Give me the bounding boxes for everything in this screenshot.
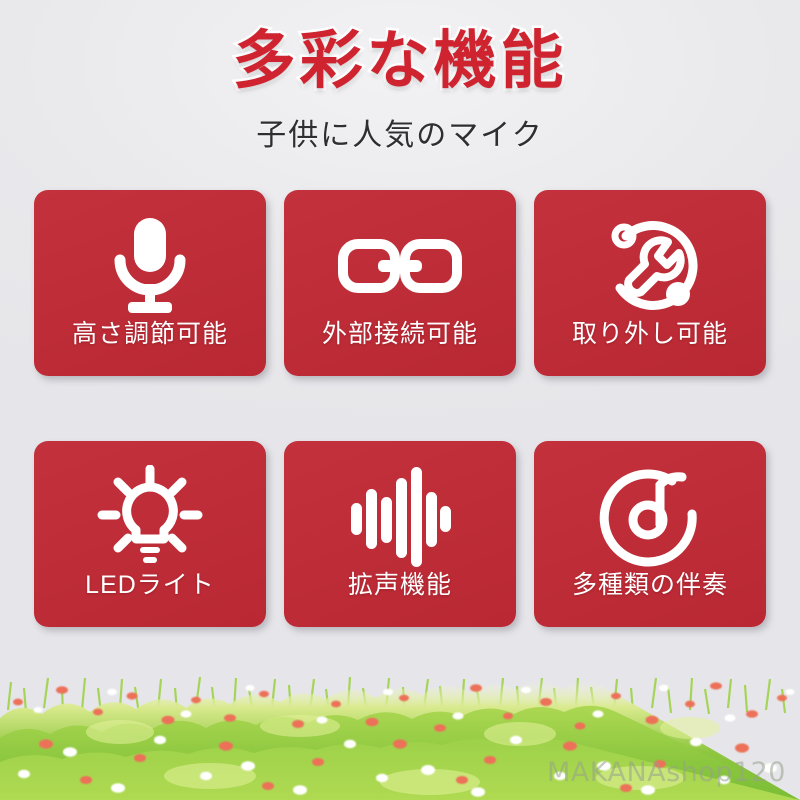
feature-card-led-light[interactable]: LEDライト [34, 441, 266, 627]
watermark: MAKANAshop120 [547, 757, 786, 788]
feature-grid: 高さ調節可能 外部接続可能 取り外し可能 [34, 190, 766, 627]
music-disc-icon [598, 463, 702, 571]
page-title: 多彩な機能 [233, 28, 568, 94]
feature-card-detachable[interactable]: 取り外し可能 [534, 190, 766, 376]
feature-card-external-connection[interactable]: 外部接続可能 [284, 190, 516, 376]
feature-label: 高さ調節可能 [72, 322, 228, 347]
feature-label: 外部接続可能 [322, 322, 478, 347]
feature-label: 多種類の伴奏 [572, 573, 728, 598]
wrench-circle-icon [598, 212, 702, 320]
microphone-icon [102, 212, 198, 320]
header: 多彩な機能 子供に人気のマイク [0, 0, 800, 154]
feature-card-accompaniment[interactable]: 多種類の伴奏 [534, 441, 766, 627]
sound-wave-icon [349, 463, 451, 571]
lightbulb-icon [96, 463, 204, 571]
feature-label: LEDライト [85, 573, 215, 598]
feature-card-amplification[interactable]: 拡声機能 [284, 441, 516, 627]
chain-link-icon [338, 212, 462, 320]
feature-card-height-adjustable[interactable]: 高さ調節可能 [34, 190, 266, 376]
feature-label: 拡声機能 [348, 573, 452, 598]
page-subtitle: 子供に人気のマイク [0, 110, 800, 154]
feature-label: 取り外し可能 [572, 322, 728, 347]
